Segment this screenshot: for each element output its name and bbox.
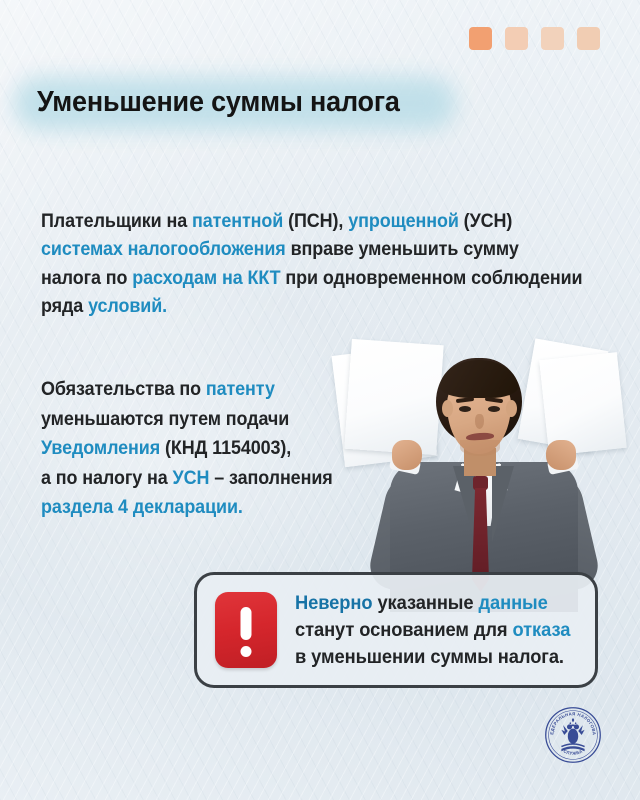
page-title-text: Уменьшение суммы налога xyxy=(24,81,413,126)
text-line-4: ряда условий. xyxy=(41,292,582,320)
tie-knot xyxy=(473,476,488,490)
paper-sheet-right-front xyxy=(539,352,627,456)
page-title: Уменьшение суммы налога xyxy=(24,81,442,126)
text-line-1: Плательщики на патентной (ПСН), упрощенн… xyxy=(41,207,582,235)
text-run: в уменьшении суммы налога. xyxy=(295,646,564,668)
ear-left xyxy=(442,400,453,417)
highlighted-term: отказа xyxy=(513,619,571,641)
text-run: станут основанием для xyxy=(295,619,513,641)
highlighted-term: упрощенной xyxy=(348,210,459,232)
text-run: уменьшаются путем подачи xyxy=(41,408,289,430)
text-line-3: Уведомления (КНД 1154003), xyxy=(41,434,333,464)
text-line-1: Обязательства по патенту xyxy=(41,375,333,405)
text-run: при одновременном соблюдении xyxy=(281,267,583,289)
paper-sheet-left-front xyxy=(344,339,443,455)
text-line-2: уменьшаются путем подачи xyxy=(41,405,333,435)
text-run: вправе уменьшить сумму xyxy=(286,238,519,260)
ear-right xyxy=(506,400,517,417)
text-line-3: в уменьшении суммы налога. xyxy=(295,644,570,671)
text-run: а по налогу на xyxy=(41,467,173,489)
infographic-poster: Уменьшение суммы налога Плательщики на п… xyxy=(0,0,640,800)
exclamation-mark-icon xyxy=(215,592,277,668)
text-line-3: налога по расходам на ККТ при одновремен… xyxy=(41,264,582,292)
decor-square-3 xyxy=(541,27,564,50)
highlighted-term: расходам на ККТ xyxy=(132,267,280,289)
highlighted-term: патентной xyxy=(192,210,283,232)
text-run: Обязательства по xyxy=(41,378,206,400)
highlighted-term: Неверно xyxy=(295,592,372,614)
highlighted-term: системах налогообложения xyxy=(41,238,286,260)
text-line-5: раздела 4 декларации. xyxy=(41,493,333,523)
text-line-4: а по налогу на УСН – заполнения xyxy=(41,464,333,494)
decor-square-2 xyxy=(505,27,528,50)
hand-left xyxy=(392,440,422,470)
text-run: налога по xyxy=(41,267,132,289)
hand-right xyxy=(546,440,576,470)
text-run: (КНД 1154003), xyxy=(160,437,291,459)
exclamation-bar xyxy=(241,607,252,640)
text-run: (ПСН), xyxy=(283,210,348,232)
eye-left xyxy=(459,406,471,412)
paragraph-two: Обязательства по патентууменьшаются путе… xyxy=(41,375,358,523)
paragraph-one: Плательщики на патентной (ПСН), упрощенн… xyxy=(41,207,630,321)
text-run: (УСН) xyxy=(459,210,512,232)
decorative-squares xyxy=(469,27,600,50)
decor-square-1 xyxy=(469,27,492,50)
businessman-photo xyxy=(330,336,635,604)
decor-square-4 xyxy=(577,27,600,50)
text-line-2: станут основанием для отказа xyxy=(295,617,570,644)
lapel-left xyxy=(453,466,475,542)
text-run: ряда xyxy=(41,295,88,317)
warning-callout: Неверно указанные данныестанут основание… xyxy=(194,572,598,688)
text-line-1: Неверно указанные данные xyxy=(295,590,570,617)
text-run: – заполнения xyxy=(209,467,332,489)
eye-right xyxy=(488,406,500,412)
text-line-2: системах налогообложения вправе уменьшит… xyxy=(41,235,582,263)
highlighted-term: патенту xyxy=(206,378,275,400)
lapel-right xyxy=(492,466,514,542)
exclamation-dot xyxy=(241,646,252,657)
highlighted-term: УСН xyxy=(173,467,210,489)
chin xyxy=(460,440,500,456)
fns-emblem-icon: ФЕДЕРАЛЬНАЯ НАЛОГОВАЯ СЛУЖБА xyxy=(544,706,602,764)
highlighted-term: Уведомления xyxy=(41,437,160,459)
nose xyxy=(475,414,484,429)
text-run: Плательщики на xyxy=(41,210,192,232)
warning-text: Неверно указанные данныестанут основание… xyxy=(295,590,588,671)
text-run: указанные xyxy=(372,592,478,614)
highlighted-term: условий. xyxy=(88,295,167,317)
highlighted-term: данные xyxy=(478,592,547,614)
highlighted-term: раздела 4 декларации. xyxy=(41,496,243,518)
